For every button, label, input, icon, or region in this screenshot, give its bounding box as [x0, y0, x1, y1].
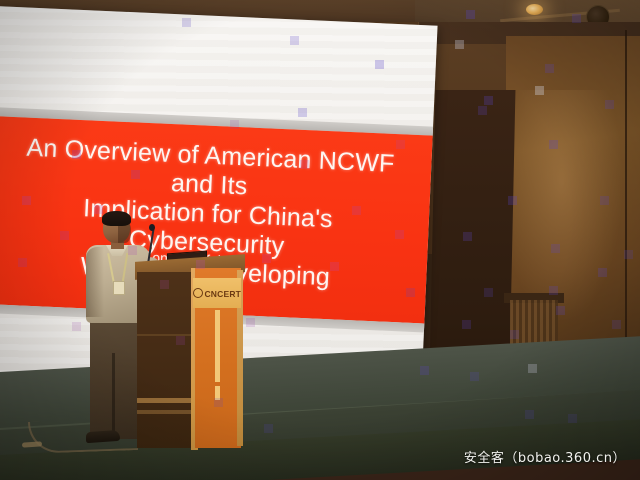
microphone-icon [149, 224, 155, 231]
podium-band-upper [137, 398, 195, 403]
presenter-hair [102, 211, 131, 226]
ceiling-spotlight-icon [526, 4, 543, 15]
watermark: 安全客（bobao.360.cn） [464, 447, 626, 466]
presentation-photo: An Overview of American NCWF and Its Imp… [0, 0, 640, 480]
podium-logo-label: CNCERT [193, 288, 241, 299]
wall-light-glow [512, 90, 622, 320]
presenter-badge [113, 281, 125, 295]
presenter-leg-split [112, 353, 115, 439]
podium-seam [137, 334, 195, 336]
presenter-shoe [86, 430, 120, 443]
podium: CNCERT [135, 258, 245, 448]
podium-accent-stripe [215, 310, 220, 382]
podium-logo-text: CNCERT [204, 289, 241, 299]
podium-accent-stripe-short [215, 386, 220, 400]
cncert-mark-icon [193, 288, 203, 298]
podium-band-lower [137, 410, 195, 414]
presenter-shoulder-shadow [86, 247, 104, 317]
podium-side-panel [137, 272, 195, 448]
podium-logo-plate: CNCERT [193, 278, 241, 308]
